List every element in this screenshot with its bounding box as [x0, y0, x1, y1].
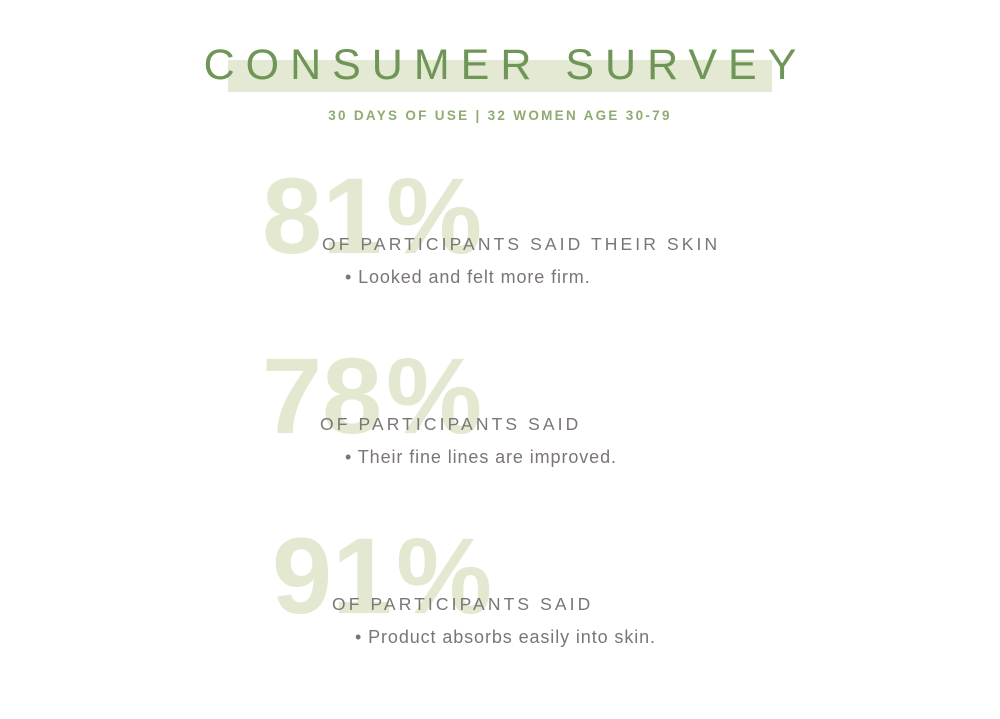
stats-list: 81% OF PARTICIPANTS SAID THEIR SKIN • Lo… — [0, 150, 1000, 690]
percent-symbol: % — [386, 335, 482, 456]
stat-block: 78% OF PARTICIPANTS SAID • Their fine li… — [0, 330, 1000, 510]
stat-value: 78 — [262, 335, 382, 456]
stat-headline: OF PARTICIPANTS SAID THEIR SKIN — [322, 234, 720, 255]
stat-block: 91% OF PARTICIPANTS SAID • Product absor… — [0, 510, 1000, 690]
stat-bullet: • Looked and felt more firm. — [345, 267, 591, 288]
page-title: CONSUMER SURVEY — [193, 36, 808, 94]
consumer-survey-poster: CONSUMER SURVEY 30 DAYS OF USE | 32 WOME… — [0, 0, 1000, 719]
stat-bullet: • Their fine lines are improved. — [345, 447, 617, 468]
stat-bullet: • Product absorbs easily into skin. — [355, 627, 656, 648]
stat-value: 91 — [272, 515, 392, 636]
stat-headline: OF PARTICIPANTS SAID — [320, 414, 581, 435]
stat-block: 81% OF PARTICIPANTS SAID THEIR SKIN • Lo… — [0, 150, 1000, 330]
stat-value: 81 — [262, 155, 382, 276]
percent-symbol: % — [386, 155, 482, 276]
title-area: CONSUMER SURVEY — [0, 36, 1000, 96]
stat-headline: OF PARTICIPANTS SAID — [332, 594, 593, 615]
page-subtitle: 30 DAYS OF USE | 32 WOMEN AGE 30-79 — [0, 108, 1000, 123]
percent-symbol: % — [396, 515, 492, 636]
poster-header: CONSUMER SURVEY 30 DAYS OF USE | 32 WOME… — [0, 0, 1000, 145]
